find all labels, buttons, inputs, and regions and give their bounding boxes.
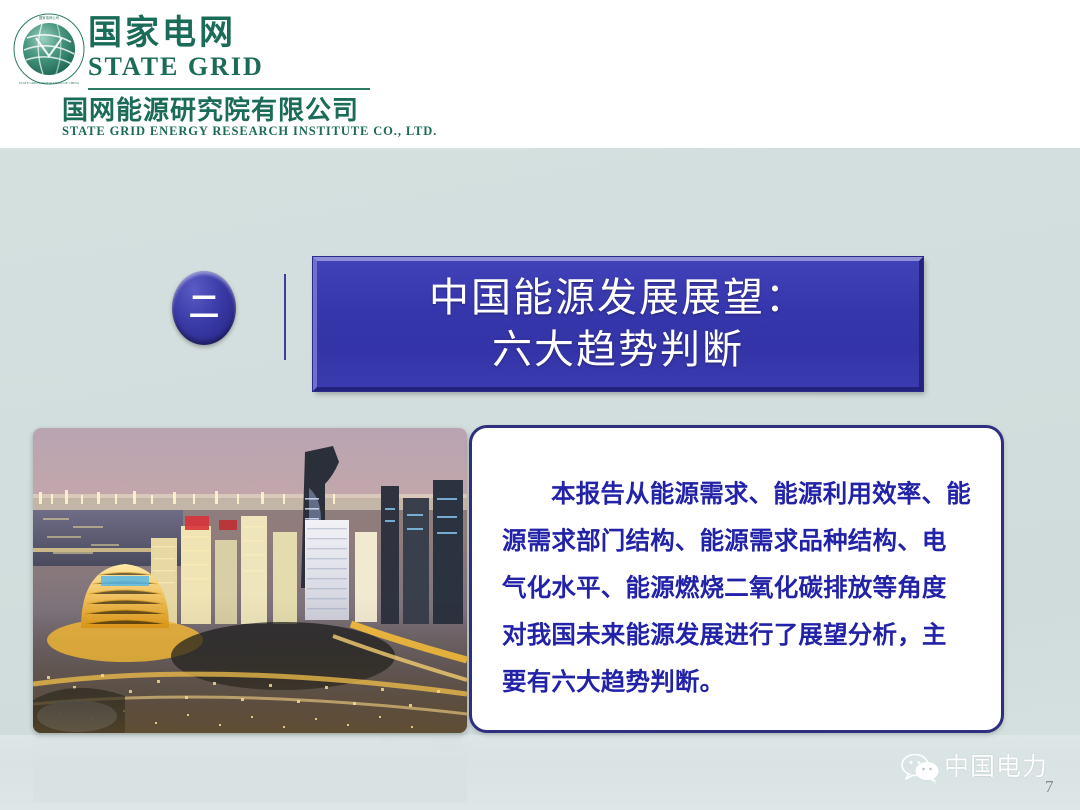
wechat-icon <box>900 754 942 784</box>
section-title-line-2: 六大趋势判断 <box>492 324 744 376</box>
badge-title-divider <box>284 274 286 360</box>
state-grid-globe-icon: 国家电网公司 STATE GRID CORPORATION OF CHINA <box>12 12 86 86</box>
section-number-label: 二 <box>172 271 236 345</box>
section-title-banner: 中国能源发展展望： 六大趋势判断 <box>313 257 923 391</box>
institute-name-cn: 国网能源研究院有限公司 <box>62 96 359 126</box>
summary-text-card: 本报告从能源需求、能源利用效率、能源需求部门结构、能源需求品种结构、电气化水平、… <box>469 425 1004 733</box>
section-number-badge: 二 <box>172 271 236 345</box>
summary-text: 本报告从能源需求、能源利用效率、能源需求部门结构、能源需求品种结构、电气化水平、… <box>472 428 1001 705</box>
header-divider <box>88 88 370 90</box>
city-night-skyline-photo <box>33 428 467 733</box>
city-photo-reflection <box>33 733 467 803</box>
page-number: 7 <box>1045 777 1054 797</box>
institute-name-en: STATE GRID ENERGY RESEARCH INSTITUTE CO.… <box>62 124 437 138</box>
section-title-line-1: 中国能源发展展望： <box>429 272 807 324</box>
svg-text:STATE GRID CORPORATION OF CHIN: STATE GRID CORPORATION OF CHINA <box>19 81 80 85</box>
brand-text-block: 国家电网 STATE GRID <box>88 14 388 81</box>
slide-root: 国家电网公司 STATE GRID CORPORATION OF CHINA 国… <box>0 0 1080 810</box>
brand-name-cn: 国家电网 <box>88 14 388 52</box>
svg-text:国家电网公司: 国家电网公司 <box>39 15 59 20</box>
wechat-account-label: 中国电力 <box>944 752 1048 782</box>
slide-header: 国家电网公司 STATE GRID CORPORATION OF CHINA 国… <box>0 0 1080 148</box>
brand-name-en: STATE GRID <box>88 53 388 81</box>
